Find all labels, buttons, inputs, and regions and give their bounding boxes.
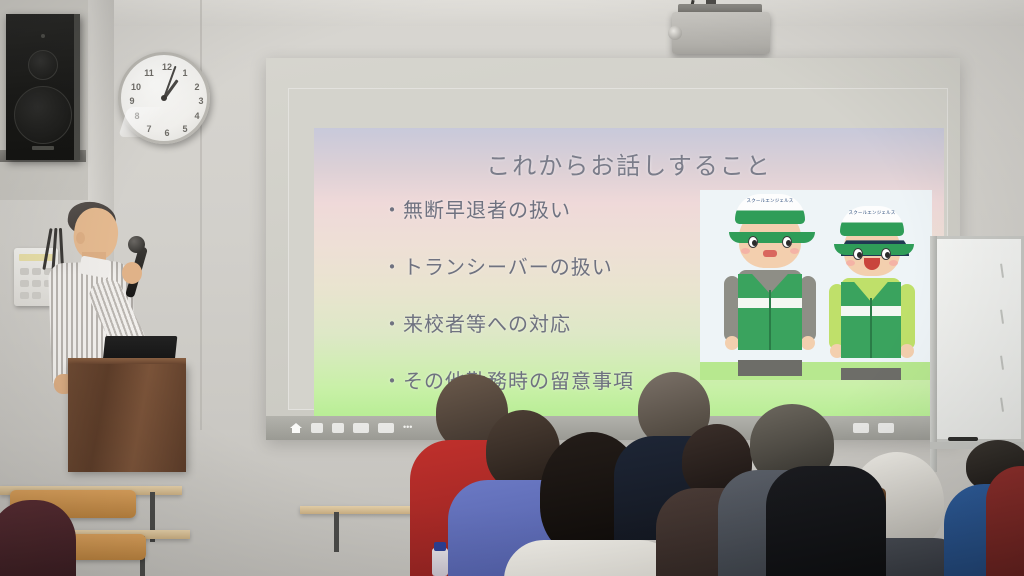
whiteboard-mark (1000, 308, 1014, 324)
mascot-figure-right: スクールエンジェルス (824, 222, 920, 370)
mascot-cap: スクールエンジェルス (735, 194, 805, 224)
notes-icon[interactable] (378, 423, 394, 433)
mascot-legs (738, 360, 802, 376)
mascot-hand (725, 336, 739, 350)
mascot-cap-text: スクールエンジェルス (735, 198, 805, 204)
speaker-tweeter (28, 50, 58, 80)
mascot-body (724, 270, 816, 362)
mascot-cheek-right (790, 248, 799, 254)
exit-icon[interactable] (878, 423, 894, 433)
slide-title: これからお話しすること (314, 146, 944, 181)
clock-numeral: 10 (130, 81, 142, 93)
whiteboard (930, 236, 1024, 442)
mascot-hand (900, 344, 914, 358)
projector-lens (668, 26, 682, 40)
clock-center-pin (161, 95, 167, 101)
whiteboard-mark (1000, 354, 1014, 370)
mascot-eye-right (782, 236, 792, 248)
audience-member (766, 436, 862, 576)
audience-body (986, 466, 1024, 576)
mascot-mouth (763, 250, 777, 257)
presenter-hand-holding-mic (122, 262, 142, 284)
mascot-cap: スクールエンジェルス (840, 206, 904, 236)
clock-numeral: 12 (161, 61, 173, 73)
slide-bullet-2: ・トランシーバーの扱い (382, 251, 712, 280)
slide-bullet-1: ・無断早退者の扱い (382, 194, 712, 223)
screen-icon[interactable] (353, 423, 369, 433)
wooden-podium (68, 364, 186, 472)
mascot-pupil (752, 240, 757, 246)
mascot-pupil (885, 252, 890, 258)
mascot-cap-text: スクールエンジェルス (840, 210, 904, 216)
control-panel-button[interactable] (20, 280, 29, 287)
lecture-room-photo: 12 1 2 3 4 5 6 7 8 9 10 11 これからお話しすること ・… (0, 0, 1024, 576)
mascot-hand (801, 336, 815, 350)
clock-numeral: 1 (179, 67, 191, 79)
audience-body (504, 540, 680, 576)
slide-bullet-3: ・来校者等への対応 (382, 308, 712, 337)
control-panel-button[interactable] (20, 292, 29, 299)
mascot-cheek-right (889, 260, 898, 266)
mascot-cheek-left (846, 260, 855, 266)
ceiling (0, 0, 1024, 26)
mascot-legs (841, 368, 901, 380)
mascot-vest-zipper (870, 298, 872, 358)
desk-leg (334, 512, 339, 552)
toolbar-right-group (853, 423, 894, 433)
whiteboard-mark (1000, 396, 1014, 412)
whiteboard-mark (1000, 262, 1014, 278)
mascot-figure-left: スクールエンジェルス (718, 210, 822, 362)
slideshow-icon[interactable] (311, 423, 323, 433)
clock-numeral: 11 (143, 67, 155, 79)
mascot-head: スクールエンジェルス (844, 222, 900, 276)
mascot-eye-left (853, 248, 863, 260)
mascot-cheek-left (741, 248, 750, 254)
whiteboard-stand (930, 236, 937, 472)
ceiling-projector (672, 12, 770, 54)
home-icon[interactable] (290, 423, 302, 433)
speaker-led (41, 34, 45, 38)
wall-speaker (6, 14, 80, 160)
mascot-arm-right (899, 284, 915, 350)
mascot-pupil (857, 252, 862, 258)
clock-numeral: 3 (195, 95, 207, 107)
desk (300, 506, 420, 514)
more-icon[interactable]: ••• (403, 423, 417, 433)
audience-member (0, 500, 70, 576)
mascot-cap-brim (834, 244, 914, 255)
mascot-eye-right (881, 248, 891, 260)
clock-numeral: 4 (191, 110, 203, 122)
toolbar-left-group: ••• (290, 423, 417, 433)
speaker-woofer (14, 86, 72, 144)
water-bottle (432, 548, 448, 576)
water-bottle-cap (434, 542, 446, 551)
microphone-head (128, 236, 145, 253)
slide-illustration: スクールエンジェルス (700, 190, 932, 380)
mascot-arm-right (800, 276, 816, 342)
mascot-pupil (786, 240, 791, 246)
mascot-head: スクールエンジェルス (739, 210, 801, 268)
clock-numeral: 9 (126, 95, 138, 107)
mascot-vest-zipper (769, 290, 771, 350)
presenter-ear (76, 232, 85, 244)
speaker-badge (32, 146, 54, 150)
wall-clock: 12 1 2 3 4 5 6 7 8 9 10 11 (118, 52, 210, 144)
audience-body (766, 466, 886, 576)
control-panel-button[interactable] (20, 268, 29, 275)
pointer-icon[interactable] (332, 423, 344, 433)
audience-member (986, 452, 1024, 576)
mascot-cap-brim (729, 232, 815, 243)
audience-body (0, 500, 76, 576)
mascot-body (829, 278, 915, 370)
clock-numeral: 5 (179, 123, 191, 135)
clock-numeral: 2 (191, 81, 203, 93)
mascot-mouth (864, 258, 880, 270)
mascot-eye-left (748, 236, 758, 248)
